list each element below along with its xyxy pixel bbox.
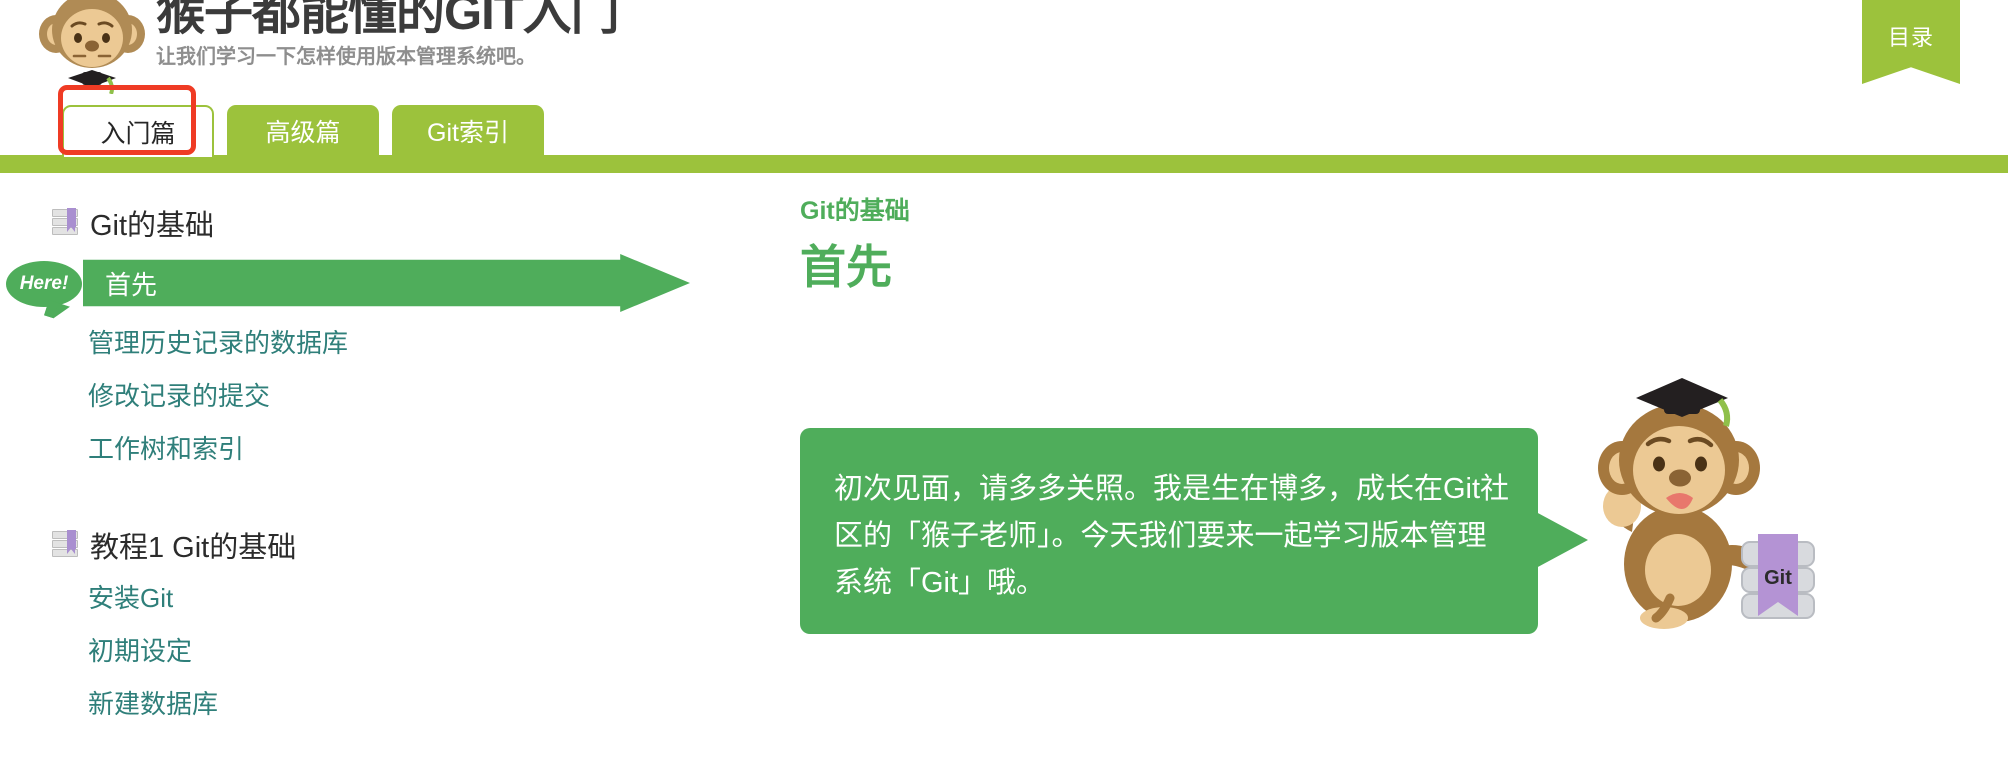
header-green-divider [0,155,2008,173]
sidebar-spacer [0,486,700,518]
sidebar-item-initial-setup[interactable]: 初期设定 [0,625,700,678]
tab-git-index[interactable]: Git索引 [392,105,544,157]
monkey-mascot-logo-icon [38,0,146,94]
sidebar-item-install-git[interactable]: 安装Git [0,572,700,625]
sidebar-group-title: 教程1 Git的基础 [90,524,296,566]
brand-text: 猴子都能懂的GIT入门 让我们学习一下怎样使用版本管理系统吧。 [156,0,619,72]
speech-line-1: 初次见面，请多多关照。我是生在博多，成长在Git社 [834,466,1504,513]
page-root: 猴子都能懂的GIT入门 让我们学习一下怎样使用版本管理系统吧。 目录 入门篇 高… [0,0,2008,780]
breadcrumb: Git的基础 [800,196,2008,226]
here-marker-label: Here! [20,273,69,295]
book-stack-icon [52,531,78,559]
book-stack-icon [52,209,78,237]
tab-advanced[interactable]: 高级篇 [227,105,379,157]
speech-line-2: 区的「猴子老师」。今天我们要来一起学习版本管理 [834,513,1504,560]
tab-advanced-label: 高级篇 [265,113,340,149]
table-of-contents-ribbon-button[interactable]: 目录 [1862,0,1960,84]
sidebar-item-history-db[interactable]: 管理历史记录的数据库 [0,317,700,370]
sidebar-navigation: Git的基础 Here! 首先 管理历史记录的数据库 修改记录的提交 工作树和索… [0,196,700,741]
sidebar-item-current[interactable]: Here! 首先 [0,252,700,315]
sidebar-item-commit-changes[interactable]: 修改记录的提交 [0,370,700,423]
site-logo[interactable]: 猴子都能懂的GIT入门 让我们学习一下怎样使用版本管理系统吧。 [38,0,619,94]
main-content: Git的基础 首先 初次见面，请多多关照。我是生在博多，成长在Git社 区的「猴… [800,196,2008,295]
sidebar-item-new-repository[interactable]: 新建数据库 [0,678,700,731]
sidebar-item-label: 首先 [83,265,157,302]
sidebar-group-header: 教程1 Git的基础 [0,518,700,572]
page-title: 猴子都能懂的GIT入门 [156,0,619,40]
git-badge-label: Git [1764,567,1792,589]
sidebar-item-worktree-index[interactable]: 工作树和索引 [0,423,700,476]
tab-beginner-label: 入门篇 [100,114,175,150]
speech-line-3: 系统「Git」哦。 [834,560,1504,607]
main-tab-bar: 入门篇 高级篇 Git索引 [62,105,544,157]
tab-git-index-label: Git索引 [427,113,509,149]
sidebar-group-title: Git的基础 [90,202,214,244]
sidebar-group-tutorial-1: 教程1 Git的基础 安装Git 初期设定 新建数据库 [0,518,700,731]
current-item-arrow: 首先 [83,254,690,312]
speech-bubble: 初次见面，请多多关照。我是生在博多，成长在Git社 区的「猴子老师」。今天我们要… [800,428,1538,634]
monkey-professor-with-git-database-icon: Git [1560,356,1820,636]
sidebar-group-git-basics: Git的基础 Here! 首先 管理历史记录的数据库 修改记录的提交 工作树和索… [0,196,700,476]
here-marker-bubble: Here! [6,261,82,307]
content-title: 首先 [800,240,2008,295]
page-subtitle: 让我们学习一下怎样使用版本管理系统吧。 [156,42,619,72]
table-of-contents-label: 目录 [1888,20,1934,52]
mascot-speech-area: 初次见面，请多多关照。我是生在博多，成长在Git社 区的「猴子老师」。今天我们要… [800,428,2008,688]
sidebar-group-header: Git的基础 [0,196,700,250]
tab-beginner[interactable]: 入门篇 [62,105,214,157]
